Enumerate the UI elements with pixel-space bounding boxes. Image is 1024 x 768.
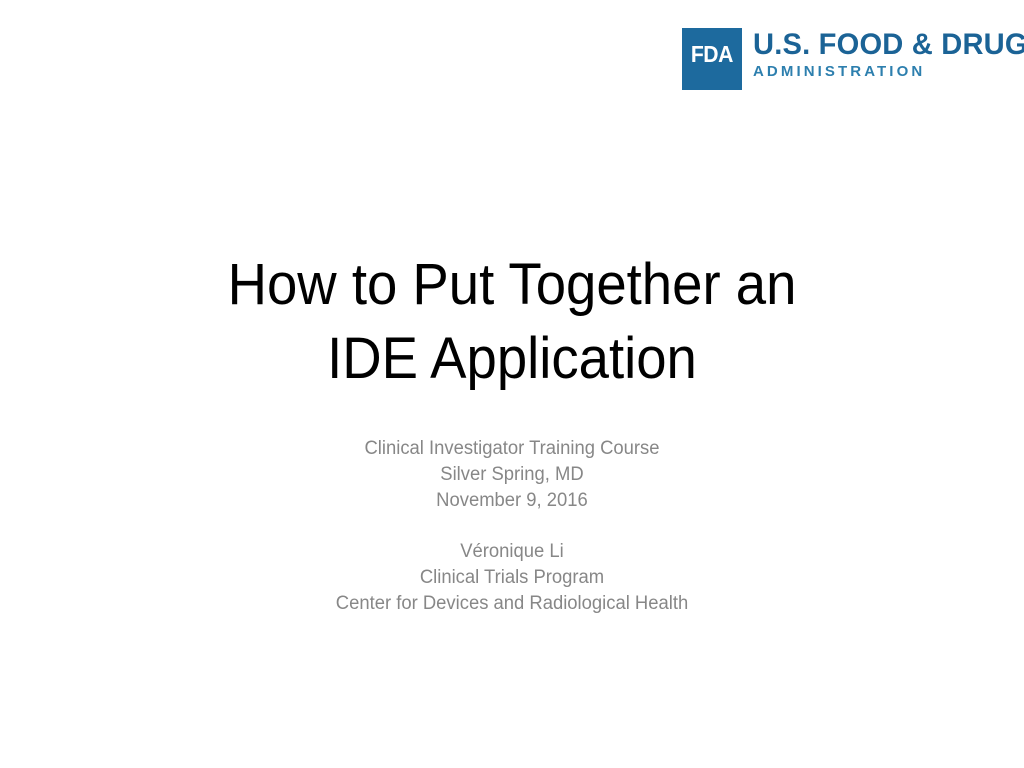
subtitle-presenter-center: Center for Devices and Radiological Heal… — [15, 591, 1008, 617]
page-title-line-1: How to Put Together an — [31, 248, 994, 322]
subtitle-date: November 9, 2016 — [15, 488, 1008, 514]
page-title-line-2: IDE Application — [31, 322, 994, 396]
page-title: How to Put Together an IDE Application — [0, 248, 1024, 396]
title-slide: FDA U.S. FOOD & DRUG ADMINISTRATION How … — [0, 0, 1024, 768]
fda-logo-mark-icon: FDA — [682, 28, 742, 90]
subtitle-course: Clinical Investigator Training Course — [15, 436, 1008, 462]
subtitle-spacer — [15, 513, 1008, 539]
fda-logo: FDA U.S. FOOD & DRUG ADMINISTRATION — [682, 28, 1024, 90]
subtitle-presenter-name: Véronique Li — [15, 539, 1008, 565]
fda-wordmark-primary: U.S. FOOD & DRUG — [753, 29, 1024, 61]
subtitle: Clinical Investigator Training Course Si… — [0, 436, 1024, 617]
fda-logo-mark-text: FDA — [691, 43, 733, 66]
subtitle-presenter-program: Clinical Trials Program — [15, 565, 1008, 591]
fda-wordmark-secondary: ADMINISTRATION — [753, 62, 1024, 81]
fda-wordmark: U.S. FOOD & DRUG ADMINISTRATION — [753, 28, 1024, 81]
subtitle-location: Silver Spring, MD — [15, 462, 1008, 488]
